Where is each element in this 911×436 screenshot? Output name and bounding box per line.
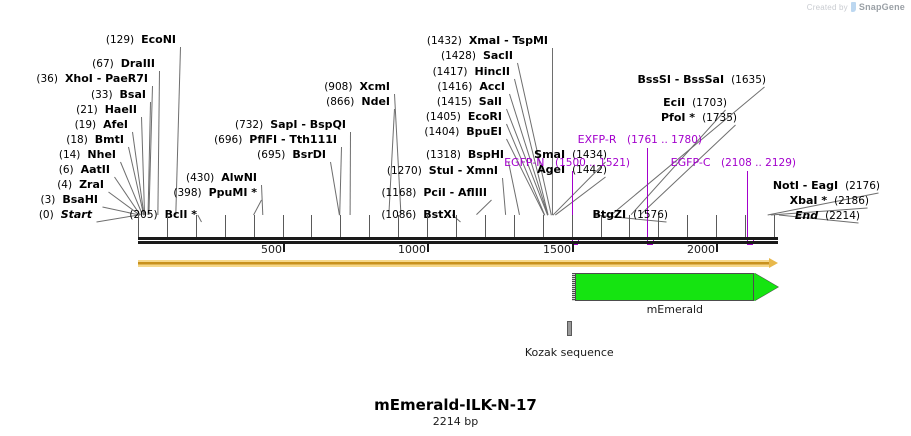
ruler-minor-tick (196, 215, 197, 237)
ruler-major-tick (427, 243, 429, 252)
ruler-minor-tick (340, 215, 341, 237)
site-enzyme-name: BspHI (468, 148, 504, 161)
restriction-site-label[interactable]: BssSI - BssSaI (1635) (637, 74, 766, 86)
site-enzyme-name: BssSI - BssSaI (637, 73, 724, 86)
site-position: (1168) (381, 187, 416, 199)
primer-name: EGFP-N (504, 156, 544, 169)
ruler-minor-tick (254, 215, 255, 237)
site-position: (1576) (633, 209, 668, 221)
ruler-minor-tick (572, 215, 573, 237)
ruler-tick-label: 1000 (398, 243, 426, 256)
restriction-site-label[interactable]: (398) PpuMI * (173, 187, 257, 199)
ruler-major-tick (572, 243, 574, 252)
site-enzyme-name: AatII (81, 163, 110, 176)
site-position: (2186) (834, 195, 869, 207)
site-leader-line (502, 178, 506, 215)
primer-bracket-line (747, 171, 748, 244)
primer-range: (1500 .. 1521) (555, 157, 630, 169)
site-enzyme-name: SacII (483, 49, 513, 62)
site-position: (2214) (825, 210, 860, 222)
backbone-arrow-head (769, 258, 778, 268)
site-position: (866) (326, 96, 354, 108)
feature-arrow-body (575, 273, 754, 301)
site-enzyme-name: NdeI (361, 95, 390, 108)
site-enzyme-name: HincII (474, 65, 510, 78)
site-leader-line (253, 200, 262, 215)
kozak-marker (567, 321, 572, 336)
ruler-minor-tick (369, 215, 370, 237)
site-enzyme-name: BsaHI (62, 193, 98, 206)
ruler-minor-tick (514, 215, 515, 237)
site-position: (696) (214, 134, 242, 146)
primer-site-label[interactable]: EXFP-R (1761 .. 1780) (578, 134, 702, 146)
ruler-minor-tick (543, 215, 544, 237)
ruler-minor-tick (716, 215, 717, 237)
site-enzyme-name: PflFI - Tth111I (249, 133, 337, 146)
site-position: (6) (59, 164, 74, 176)
restriction-site-label[interactable]: (1168) PciI - AflIII (381, 187, 487, 199)
site-enzyme-name: XhoI - PaeR7I (65, 72, 148, 85)
primer-name: EXFP-R (578, 133, 617, 146)
backbone-arrow-bar (138, 260, 769, 267)
ruler-minor-tick (485, 215, 486, 237)
ruler-tick-label: 2000 (687, 243, 715, 256)
site-position: (33) (91, 89, 113, 101)
site-position: (2176) (845, 180, 880, 192)
restriction-site-label[interactable]: (36) XhoI - PaeR7I (36, 73, 148, 85)
ruler-minor-tick (427, 215, 428, 237)
site-enzyme-name: PciI - AflIII (423, 186, 487, 199)
restriction-site-label[interactable]: (18) BmtI (66, 134, 124, 146)
restriction-site-label[interactable]: (1416) AccI (437, 81, 505, 93)
site-enzyme-name: AfeI (103, 118, 128, 131)
primer-bracket-line (647, 148, 648, 244)
site-enzyme-name: PpuMI * (209, 186, 257, 199)
site-position: (1416) (437, 81, 472, 93)
site-enzyme-name: XmaI - TspMI (469, 34, 548, 47)
site-enzyme-name: DraIII (121, 57, 155, 70)
site-leader-line (388, 109, 395, 215)
site-leader-line (261, 185, 263, 215)
site-enzyme-name: AccI (479, 80, 505, 93)
site-position: (4) (57, 179, 72, 191)
ruler-minor-tick (774, 215, 775, 237)
ruler-minor-tick (456, 215, 457, 237)
watermark-brand: SnapGene (859, 2, 905, 12)
restriction-site-label[interactable]: EciI (1703) (663, 97, 727, 109)
ruler-minor-tick (225, 215, 226, 237)
ruler-minor-tick (398, 215, 399, 237)
primer-site-label[interactable]: EGFP-N (1500 .. 1521) (504, 157, 630, 169)
site-enzyme-name: BtgZI (592, 208, 626, 221)
restriction-site-label[interactable]: (696) PflFI - Tth111I (214, 134, 337, 146)
site-enzyme-name: BsrDI (292, 148, 326, 161)
site-position: (14) (59, 149, 81, 161)
site-position: (21) (76, 104, 98, 116)
site-enzyme-name: End (795, 209, 818, 222)
restriction-site-label[interactable]: (1404) BpuEI (424, 126, 502, 138)
ruler-tick-label: 1500 (543, 243, 571, 256)
site-enzyme-name: Start (61, 208, 92, 221)
plasmid-map: Created by SnapGene (129) EcoNI(67) DraI… (0, 0, 911, 436)
ruler-minor-tick (138, 215, 139, 237)
site-position: (67) (92, 58, 114, 70)
site-position: (1405) (426, 111, 461, 123)
ruler-baseline (138, 237, 778, 240)
watermark-prefix: Created by (807, 3, 848, 12)
site-enzyme-name: StuI - XmnI (429, 164, 498, 177)
page-title: mEmerald-ILK-N-17 (374, 396, 537, 414)
restriction-site-label[interactable]: (19) AfeI (75, 119, 128, 131)
site-position: (18) (66, 134, 88, 146)
primer-range: (1761 .. 1780) (627, 134, 702, 146)
site-enzyme-name: BmtI (95, 133, 124, 146)
site-position: (1270) (387, 165, 422, 177)
site-enzyme-name: EciI (663, 96, 685, 109)
ruler-baseline-2 (138, 241, 778, 244)
restriction-site-label[interactable]: (1318) BspHI (426, 149, 504, 161)
primer-site-label[interactable]: EGFP-C (2108 .. 2129) (671, 157, 796, 169)
restriction-site-label[interactable]: (1270) StuI - XmnI (387, 165, 498, 177)
restriction-site-label[interactable]: NotI - EagI (2176) (773, 180, 880, 192)
plasmid-length: 2214 bp (433, 415, 478, 428)
site-leader-line (514, 79, 549, 215)
restriction-site-label[interactable]: (1086) BstXI (381, 209, 456, 221)
restriction-site-label[interactable]: (33) BsaI (91, 89, 146, 101)
primer-bracket-hook (647, 244, 653, 245)
site-enzyme-name: BstXI (423, 208, 456, 221)
site-position: (1735) (702, 112, 737, 124)
site-enzyme-name: XbaI * (790, 194, 827, 207)
restriction-site-label[interactable]: (3) BsaHI (40, 194, 98, 206)
site-position: (398) (173, 187, 201, 199)
site-position: (1417) (433, 66, 468, 78)
restriction-site-label[interactable]: (732) SapI - BspQI (235, 119, 346, 131)
restriction-site-label[interactable]: (1432) XmaI - TspMI (427, 35, 548, 47)
site-enzyme-name: BsaI (120, 88, 146, 101)
ruler-minor-tick (629, 215, 630, 237)
site-leader-line (157, 71, 160, 215)
site-leader-line (197, 215, 202, 222)
site-enzyme-name: NheI (87, 148, 116, 161)
site-position: (1318) (426, 149, 461, 161)
ruler-minor-tick (687, 215, 688, 237)
ruler-minor-tick (601, 215, 602, 237)
restriction-site-label[interactable]: PfoI * (1735) (661, 112, 737, 124)
site-enzyme-name: SapI - BspQI (270, 118, 346, 131)
site-position: (129) (106, 34, 134, 46)
ruler-minor-tick (745, 215, 746, 237)
site-leader-line (552, 48, 553, 215)
feature-arrow-head (754, 273, 778, 301)
site-enzyme-name: EcoRI (468, 110, 502, 123)
site-position: (1428) (441, 50, 476, 62)
site-enzyme-name: SalI (479, 95, 502, 108)
site-enzyme-name: EcoNI (141, 33, 176, 46)
site-position: (205) (129, 209, 157, 221)
snapgene-watermark: Created by SnapGene (807, 2, 905, 12)
site-position: (1415) (437, 96, 472, 108)
site-enzyme-name: AlwNI (221, 171, 257, 184)
site-enzyme-name: NotI - EagI (773, 179, 838, 192)
site-position: (1703) (692, 97, 727, 109)
restriction-site-label[interactable]: (205) BclI * (129, 209, 197, 221)
ruler-major-tick (716, 243, 718, 252)
restriction-site-label[interactable]: (430) AlwNI (186, 172, 257, 184)
restriction-site-label[interactable]: (14) NheI (59, 149, 116, 161)
restriction-site-label[interactable]: BtgZI (1576) (592, 209, 668, 221)
primer-range: (2108 .. 2129) (721, 157, 796, 169)
site-position: (908) (324, 81, 352, 93)
restriction-site-label[interactable]: (0) Start (39, 209, 92, 221)
site-enzyme-name: BpuEI (466, 125, 502, 138)
site-leader-line (476, 200, 492, 216)
ruler-tick-label: 500 (261, 243, 282, 256)
restriction-site-label[interactable]: (866) NdeI (326, 96, 390, 108)
site-position: (1432) (427, 35, 462, 47)
site-leader-line (339, 147, 342, 215)
ruler-minor-tick (283, 215, 284, 237)
feature-label-memerald: mEmerald (647, 303, 703, 316)
site-position: (430) (186, 172, 214, 184)
site-position: (19) (75, 119, 97, 131)
site-position: (1404) (424, 126, 459, 138)
site-position: (0) (39, 209, 54, 221)
restriction-site-label[interactable]: (129) EcoNI (106, 34, 176, 46)
restriction-site-label[interactable]: End (2214) (795, 210, 860, 222)
restriction-site-label[interactable]: (695) BsrDI (257, 149, 326, 161)
restriction-site-label[interactable]: (908) XcmI (324, 81, 390, 93)
site-position: (732) (235, 119, 263, 131)
site-enzyme-name: PfoI * (661, 111, 695, 124)
restriction-site-label[interactable]: (67) DraIII (92, 58, 155, 70)
site-leader-line (350, 132, 351, 215)
restriction-site-label[interactable]: (1428) SacII (441, 50, 513, 62)
restriction-site-label[interactable]: (1415) SalI (437, 96, 502, 108)
site-position: (3) (40, 194, 55, 206)
primer-bracket-hook (747, 244, 753, 245)
site-enzyme-name: ZraI (79, 178, 104, 191)
restriction-site-label[interactable]: (6) AatII (59, 164, 110, 176)
restriction-site-label[interactable]: (4) ZraI (57, 179, 104, 191)
site-enzyme-name: HaeII (105, 103, 137, 116)
ruler-minor-tick (311, 215, 312, 237)
site-leader-line (508, 162, 520, 215)
feature-label-kozak: Kozak sequence (525, 346, 614, 359)
restriction-site-label[interactable]: (1405) EcoRI (426, 111, 502, 123)
restriction-site-label[interactable]: (1417) HincII (433, 66, 510, 78)
site-position: (36) (36, 73, 58, 85)
site-enzyme-name: XcmI (359, 80, 390, 93)
restriction-site-label[interactable]: (21) HaeII (76, 104, 137, 116)
ruler-minor-tick (167, 215, 168, 237)
ruler-minor-tick (658, 215, 659, 237)
site-position: (1635) (731, 74, 766, 86)
ruler-major-tick (283, 243, 285, 252)
primer-name: EGFP-C (671, 156, 711, 169)
site-enzyme-name: BclI * (165, 208, 197, 221)
snapgene-logo-icon (851, 2, 856, 12)
restriction-site-label[interactable]: XbaI * (2186) (790, 195, 869, 207)
site-position: (695) (257, 149, 285, 161)
